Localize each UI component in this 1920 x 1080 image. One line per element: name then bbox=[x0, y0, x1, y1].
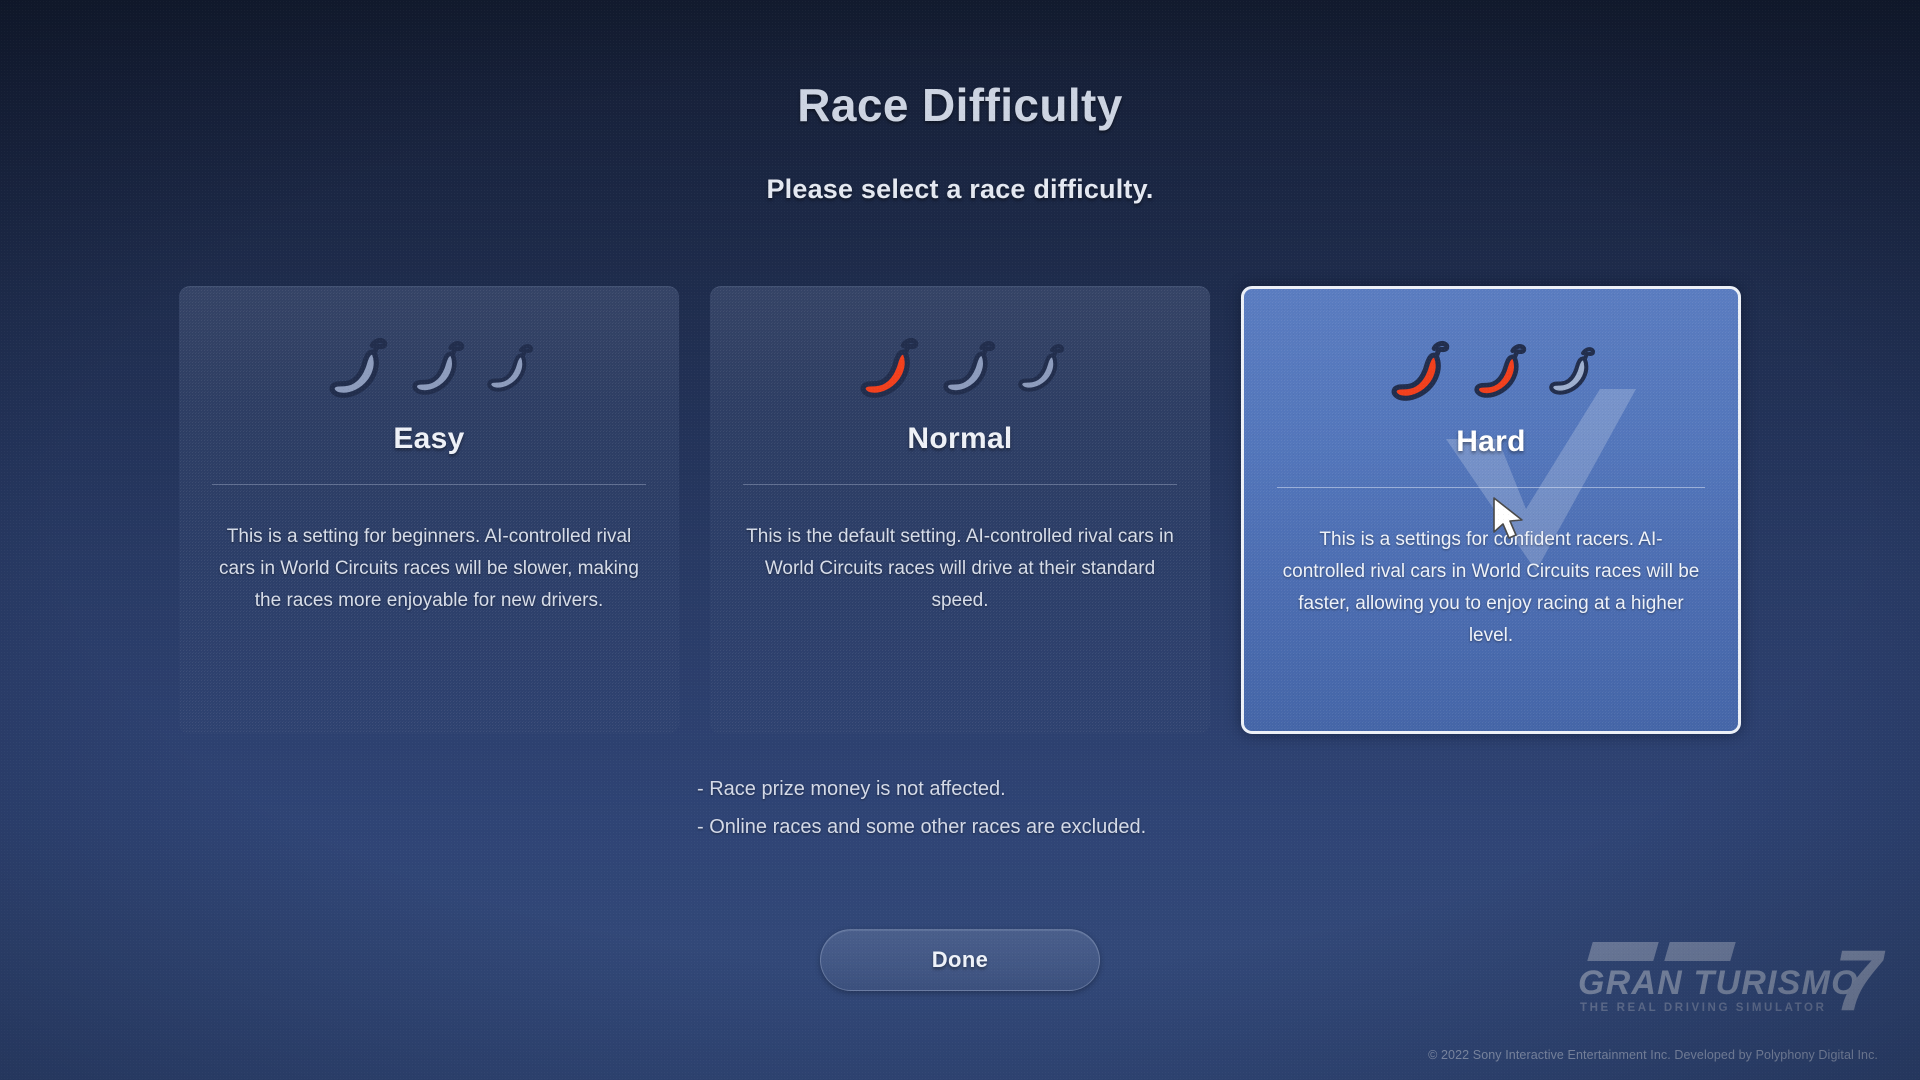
note-item: - Online races and some other races are … bbox=[697, 808, 1146, 846]
logo-tagline: THE REAL DRIVING SIMULATOR bbox=[1580, 1002, 1827, 1014]
chili-pepper-icon-active bbox=[1380, 332, 1458, 410]
chili-rating-hard bbox=[1244, 311, 1738, 431]
logo-bar bbox=[1664, 942, 1735, 961]
card-title-normal: Normal bbox=[710, 422, 1210, 456]
card-divider bbox=[212, 484, 646, 485]
logo-number: 7 bbox=[1834, 938, 1882, 1024]
copyright-text: © 2022 Sony Interactive Entertainment In… bbox=[1428, 1048, 1878, 1062]
chili-pepper-icon bbox=[478, 337, 540, 399]
chili-pepper-icon-active bbox=[849, 329, 927, 407]
card-description-normal: This is the default setting. AI-controll… bbox=[746, 521, 1174, 617]
chili-rating-normal bbox=[710, 308, 1210, 428]
difficulty-card-easy[interactable]: Easy This is a setting for beginners. AI… bbox=[179, 286, 679, 734]
page-title: Race Difficulty bbox=[0, 78, 1920, 132]
chili-pepper-icon-active bbox=[1464, 336, 1534, 406]
done-button[interactable]: Done bbox=[820, 929, 1100, 991]
chili-rating-easy bbox=[179, 308, 679, 428]
logo-bars-icon bbox=[1590, 942, 1733, 961]
card-divider bbox=[1277, 487, 1705, 488]
logo-wordmark: GRAN TURISMO bbox=[1578, 964, 1859, 1003]
logo-bar bbox=[1587, 942, 1658, 961]
chili-pepper-icon bbox=[318, 329, 396, 407]
header: Race Difficulty Please select a race dif… bbox=[0, 0, 1920, 205]
card-description-hard: This is a settings for confident racers.… bbox=[1280, 524, 1702, 652]
chili-pepper-icon bbox=[933, 333, 1003, 403]
page-subtitle: Please select a race difficulty. bbox=[0, 174, 1920, 205]
card-title-easy: Easy bbox=[179, 422, 679, 456]
card-description-easy: This is a setting for beginners. AI-cont… bbox=[215, 521, 643, 617]
difficulty-card-list: Easy This is a setting for beginners. AI… bbox=[179, 286, 1741, 734]
difficulty-card-normal[interactable]: Normal This is the default setting. AI-c… bbox=[710, 286, 1210, 734]
race-difficulty-screen: Race Difficulty Please select a race dif… bbox=[0, 0, 1920, 1080]
card-title-hard: Hard bbox=[1244, 425, 1738, 459]
card-divider bbox=[743, 484, 1177, 485]
chili-pepper-icon bbox=[402, 333, 472, 403]
difficulty-card-hard[interactable]: Hard This is a settings for confident ra… bbox=[1241, 286, 1741, 734]
chili-pepper-icon bbox=[1009, 337, 1071, 399]
notes-list: - Race prize money is not affected. - On… bbox=[697, 770, 1146, 846]
gran-turismo-logo: GRAN TURISMO THE REAL DRIVING SIMULATOR … bbox=[1578, 942, 1878, 1028]
chili-pepper-icon bbox=[1540, 340, 1602, 402]
note-item: - Race prize money is not affected. bbox=[697, 770, 1146, 808]
